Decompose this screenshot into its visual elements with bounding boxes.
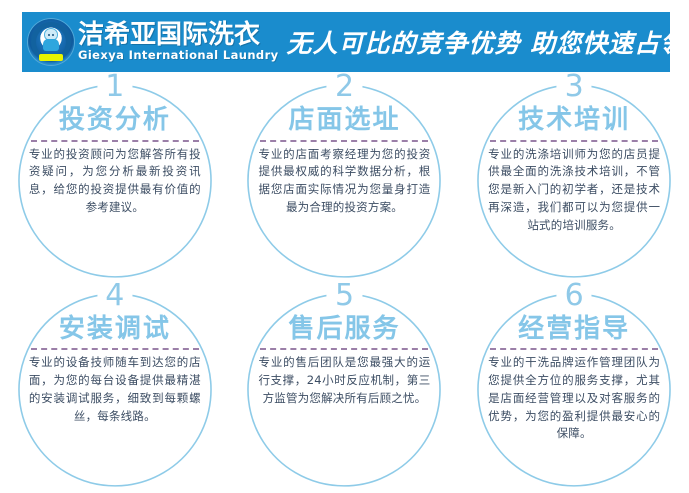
card-number-5: 5	[327, 281, 362, 311]
service-card-1[interactable]: 1 投资分析 专业的投资顾问为您解答所有投资疑问，为您分析最新投资讯息，给您的投…	[0, 76, 230, 285]
card-divider-1	[31, 140, 199, 142]
service-card-4[interactable]: 4 安装调试 专业的设备技师随车到达您的店面，为您的每台设备提供最精湛的安装调试…	[0, 285, 230, 493]
card-number-3: 3	[557, 72, 592, 102]
brand-names: 洁希亚国际洗衣 Giexya International Laundry	[78, 22, 279, 62]
card-title-4: 安装调试	[29, 315, 201, 344]
card-title-3: 技术培训	[488, 106, 660, 135]
mascot-figure-icon	[40, 28, 62, 52]
service-card-2[interactable]: 2 店面选址 专业的店面考察经理为您的投资提供最权威的科学数据分析，根据您店面实…	[230, 76, 460, 285]
logo-name-strip	[39, 54, 63, 61]
card-body-6: 专业的干洗品牌运作管理团队为您提供全方位的服务支撑，尤其是店面经营管理以及对客服…	[488, 354, 660, 443]
card-number-4: 4	[97, 281, 132, 311]
card-divider-6	[490, 348, 658, 350]
card-title-5: 售后服务	[258, 315, 430, 344]
card-divider-4	[31, 348, 199, 350]
brand-name-cn: 洁希亚国际洗衣	[78, 22, 279, 48]
laundry-mascot-badge-icon	[28, 19, 74, 65]
card-title-6: 经营指导	[488, 315, 660, 344]
card-number-2: 2	[327, 72, 362, 102]
card-body-2: 专业的店面考察经理为您的投资提供最权威的科学数据分析，根据您店面实际情况为您量身…	[258, 146, 430, 217]
brand-block: 洁希亚国际洗衣 Giexya International Laundry	[22, 19, 279, 65]
card-number-6: 6	[557, 281, 592, 311]
brand-name-en: Giexya International Laundry	[78, 50, 279, 62]
card-body-3: 专业的洗涤培训师为您的店员提供最全面的洗涤技术培训，不管您是新入门的初学者，还是…	[488, 146, 660, 235]
service-card-5[interactable]: 5 售后服务 专业的售后团队是您最强大的运行支撑，24小时反应机制，第三方监管为…	[230, 285, 460, 493]
card-body-4: 专业的设备技师随车到达您的店面，为您的每台设备提供最精湛的安装调试服务，细致到每…	[29, 354, 201, 425]
header-banner: 洁希亚国际洗衣 Giexya International Laundry 无人可…	[22, 12, 670, 72]
card-divider-5	[260, 348, 428, 350]
card-divider-2	[260, 140, 428, 142]
card-title-1: 投资分析	[29, 106, 201, 135]
service-card-3[interactable]: 3 技术培训 专业的洗涤培训师为您的店员提供最全面的洗涤技术培训，不管您是新入门…	[459, 76, 689, 285]
mascot-body-icon	[43, 39, 59, 51]
service-cards-grid: 1 投资分析 专业的投资顾问为您解答所有投资疑问，为您分析最新投资讯息，给您的投…	[0, 76, 689, 493]
header-slogan: 无人可比的竞争优势 助您快速占领市场	[279, 24, 670, 60]
card-number-1: 1	[97, 72, 132, 102]
card-body-5: 专业的售后团队是您最强大的运行支撑，24小时反应机制，第三方监管为您解决所有后顾…	[258, 354, 430, 407]
card-title-2: 店面选址	[258, 106, 430, 135]
card-divider-3	[490, 140, 658, 142]
card-body-1: 专业的投资顾问为您解答所有投资疑问，为您分析最新投资讯息，给您的投资提供最有价值…	[29, 146, 201, 217]
service-card-6[interactable]: 6 经营指导 专业的干洗品牌运作管理团队为您提供全方位的服务支撑，尤其是店面经营…	[459, 285, 689, 493]
